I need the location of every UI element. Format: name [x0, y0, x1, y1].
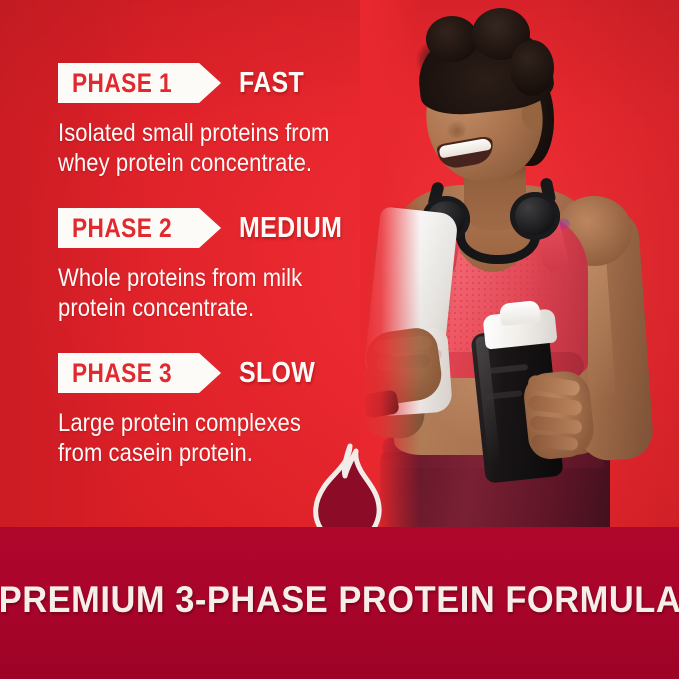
product-infographic-poster: PHASE 1 FAST Isolated small proteins fro… [0, 0, 679, 679]
phase-description-3: Large protein complexes from casein prot… [58, 408, 301, 468]
headphone-earcup-right [510, 192, 560, 240]
phase-block-3: PHASE 3 SLOW Large protein complexes fro… [58, 352, 334, 468]
bottom-banner: PREMIUM 3-PHASE PROTEIN FORMULA [0, 527, 679, 679]
phase-tag-1: PHASE 1 [58, 63, 221, 103]
phase-header-3: PHASE 3 SLOW [58, 352, 334, 394]
model-photo [360, 0, 679, 528]
hair-bun-1 [426, 16, 478, 62]
phase-block-1: PHASE 1 FAST Isolated small proteins fro… [58, 62, 366, 178]
phase-description-2: Whole proteins from milk protein concent… [58, 263, 323, 323]
nose [446, 120, 466, 138]
phase-header-1: PHASE 1 FAST [58, 62, 366, 104]
phase-header-2: PHASE 2 MEDIUM [58, 207, 359, 249]
phase-tag-label-1: PHASE 1 [72, 70, 172, 97]
banner-headline: PREMIUM 3-PHASE PROTEIN FORMULA [0, 579, 679, 621]
phase-tag-3: PHASE 3 [58, 353, 221, 393]
phase-block-2: PHASE 2 MEDIUM Whole proteins from milk … [58, 207, 359, 323]
phase-tag-label-3: PHASE 3 [72, 360, 172, 387]
phase-tag-2: PHASE 2 [58, 208, 221, 248]
phase-speed-1: FAST [239, 69, 304, 98]
hair-bun-3 [510, 40, 554, 96]
phase-tag-label-2: PHASE 2 [72, 215, 172, 242]
shaker-bottle-spout [499, 300, 541, 326]
phase-speed-3: SLOW [239, 359, 315, 388]
phase-description-1: Isolated small proteins from whey protei… [58, 118, 329, 178]
phase-speed-2: MEDIUM [239, 214, 342, 243]
